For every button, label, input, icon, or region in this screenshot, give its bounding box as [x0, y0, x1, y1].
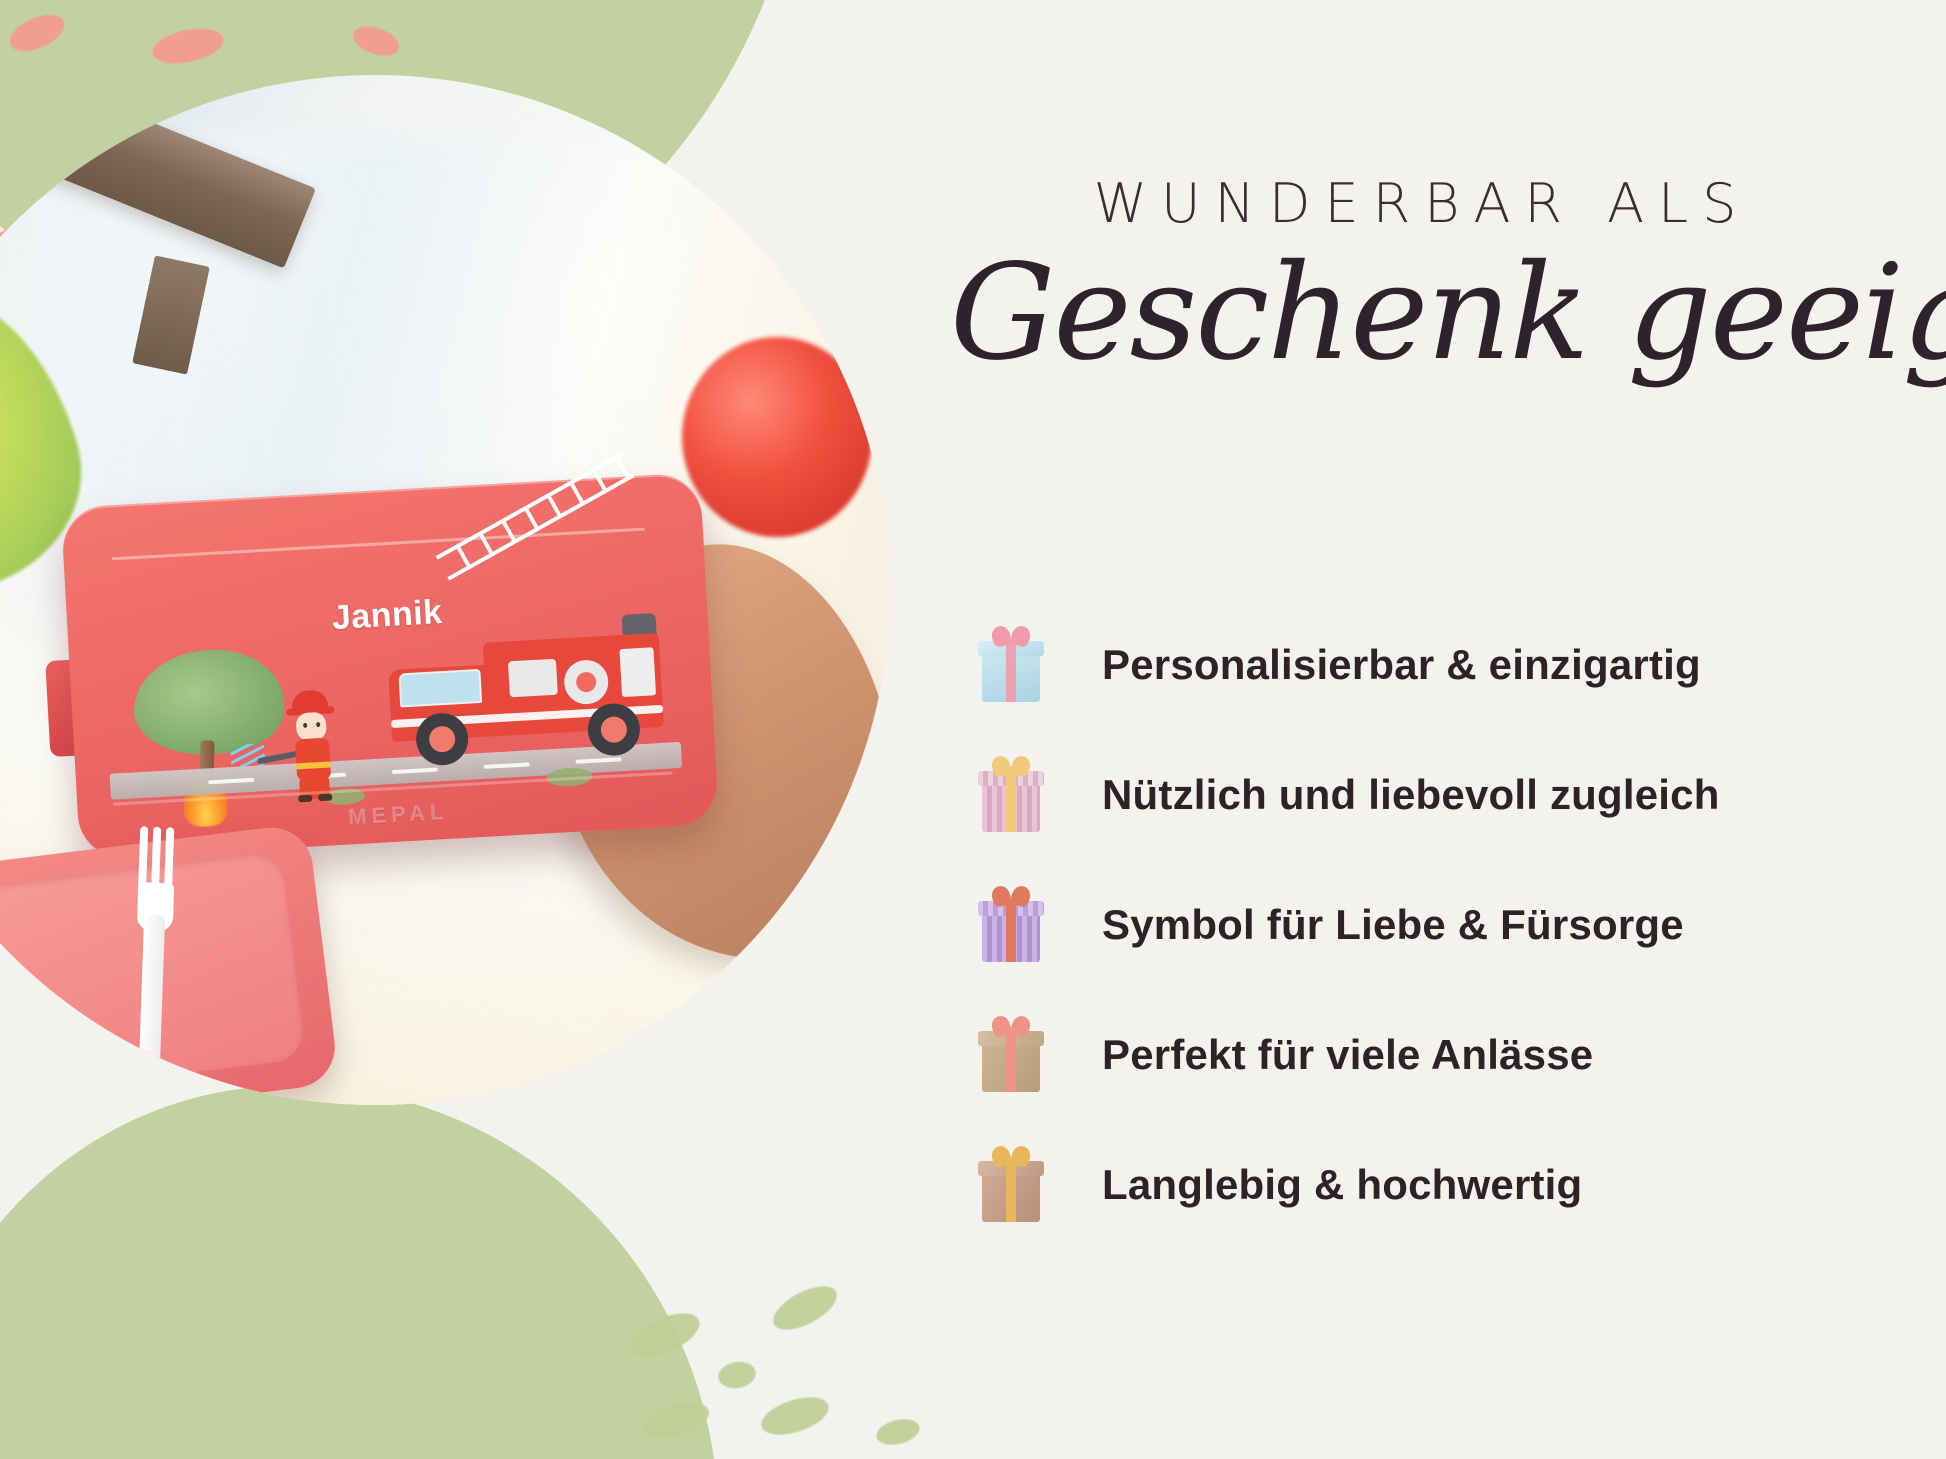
- gift-box-icon: [978, 758, 1044, 832]
- list-item: Perfekt für viele Anlässe: [970, 990, 1930, 1120]
- gift-box-icon: [978, 888, 1044, 962]
- green-blob-bottom-left: [0, 1044, 725, 1459]
- headline-script: Geschenk geeignet: [950, 236, 1916, 390]
- feature-label: Langlebig & hochwertig: [1102, 1161, 1582, 1209]
- gift-box-icon: [978, 628, 1044, 702]
- feature-label: Symbol für Liebe & Fürsorge: [1102, 901, 1684, 949]
- apple: [682, 337, 872, 537]
- feature-label: Nützlich und liebevoll zugleich: [1102, 771, 1720, 819]
- lunch-box: Jannik MEPAL: [61, 472, 720, 859]
- list-item: Langlebig & hochwertig: [970, 1120, 1930, 1250]
- promo-banner: Jannik MEPAL WUNDERBAR ALS Geschenk geei…: [0, 0, 1946, 1459]
- lunch-box-lid: [0, 823, 340, 1105]
- product-photo: Jannik MEPAL: [0, 75, 890, 1105]
- list-item: Symbol für Liebe & Fürsorge: [970, 860, 1930, 990]
- gift-box-icon: [978, 1148, 1044, 1222]
- list-item: Nützlich und liebevoll zugleich: [970, 730, 1930, 860]
- gift-box-icon: [978, 1018, 1044, 1092]
- headline-kicker: WUNDERBAR ALS: [950, 172, 1894, 235]
- box-body: Jannik MEPAL: [61, 472, 720, 859]
- feature-label: Personalisierbar & einzigartig: [1102, 641, 1701, 689]
- feature-label: Perfekt für viele Anlässe: [1102, 1031, 1593, 1079]
- list-item: Personalisierbar & einzigartig: [970, 600, 1930, 730]
- firefighter-icon: [283, 689, 341, 800]
- text-column: WUNDERBAR ALS Geschenk geeignet Personal…: [950, 0, 1946, 1459]
- feature-list: Personalisierbar & einzigartig Nützlich …: [970, 600, 1930, 1250]
